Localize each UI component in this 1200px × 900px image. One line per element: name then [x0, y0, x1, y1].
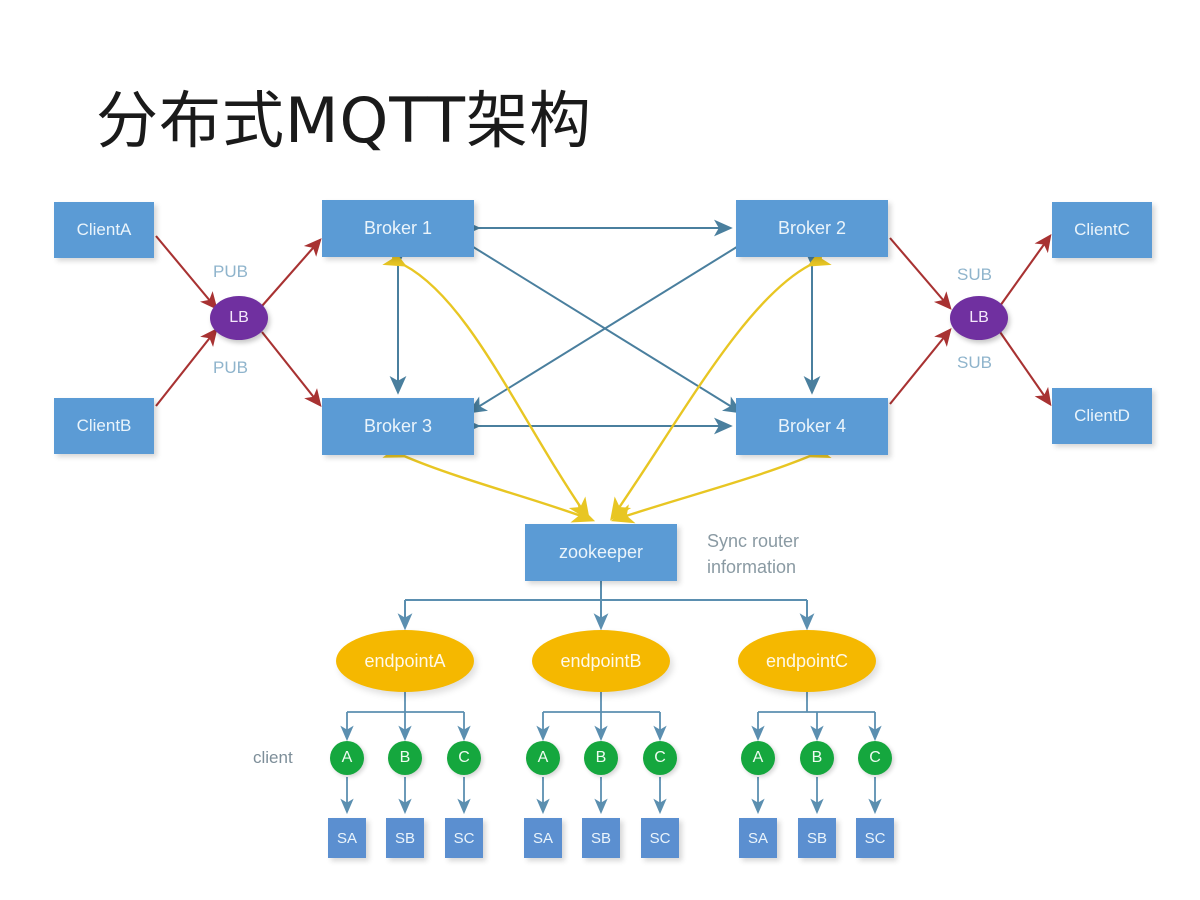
zookeeper-sync-arrows: [404, 265, 810, 520]
client-node-a3[interactable]: A: [741, 741, 775, 775]
page-title: 分布式MQTT架构: [96, 82, 592, 160]
client-node-b1[interactable]: B: [388, 741, 422, 775]
session-box-sa3[interactable]: SA: [739, 818, 777, 858]
session-box-sc3[interactable]: SC: [856, 818, 894, 858]
session-box-sa2[interactable]: SA: [524, 818, 562, 858]
label-pub-top: PUB: [213, 262, 248, 282]
client-node-a2[interactable]: A: [526, 741, 560, 775]
diagram-canvas: 分布式MQTT架构: [0, 0, 1200, 900]
label-pub-bottom: PUB: [213, 358, 248, 378]
broker-mesh-arrows: [398, 228, 812, 426]
client-row-label: client: [253, 748, 293, 768]
broker-box-4[interactable]: Broker 4: [736, 398, 888, 455]
endpoint-client-tree: [347, 692, 875, 739]
client-node-c3[interactable]: C: [858, 741, 892, 775]
zookeeper-endpoint-tree: [405, 581, 807, 628]
session-box-sb2[interactable]: SB: [582, 818, 620, 858]
load-balancer-right[interactable]: LB: [950, 296, 1008, 340]
client-node-a1[interactable]: A: [330, 741, 364, 775]
session-box-sb1[interactable]: SB: [386, 818, 424, 858]
session-box-sc2[interactable]: SC: [641, 818, 679, 858]
client-box-clientc[interactable]: ClientC: [1052, 202, 1152, 258]
broker-box-1[interactable]: Broker 1: [322, 200, 474, 257]
zookeeper-box[interactable]: zookeeper: [525, 524, 677, 581]
load-balancer-left[interactable]: LB: [210, 296, 268, 340]
client-session-arrows: [347, 777, 875, 812]
client-box-clienta[interactable]: ClientA: [54, 202, 154, 258]
sync-router-note-line2: information: [707, 554, 796, 580]
client-box-clientd[interactable]: ClientD: [1052, 388, 1152, 444]
endpoint-ellipse-c[interactable]: endpointC: [738, 630, 876, 692]
client-node-b2[interactable]: B: [584, 741, 618, 775]
client-node-b3[interactable]: B: [800, 741, 834, 775]
endpoint-ellipse-b[interactable]: endpointB: [532, 630, 670, 692]
sync-router-note-line1: Sync router: [707, 528, 799, 554]
session-box-sc1[interactable]: SC: [445, 818, 483, 858]
session-box-sb3[interactable]: SB: [798, 818, 836, 858]
endpoint-ellipse-a[interactable]: endpointA: [336, 630, 474, 692]
client-node-c2[interactable]: C: [643, 741, 677, 775]
client-box-clientb[interactable]: ClientB: [54, 398, 154, 454]
broker-box-3[interactable]: Broker 3: [322, 398, 474, 455]
session-box-sa1[interactable]: SA: [328, 818, 366, 858]
client-node-c1[interactable]: C: [447, 741, 481, 775]
label-sub-bottom: SUB: [957, 353, 992, 373]
label-sub-top: SUB: [957, 265, 992, 285]
broker-box-2[interactable]: Broker 2: [736, 200, 888, 257]
